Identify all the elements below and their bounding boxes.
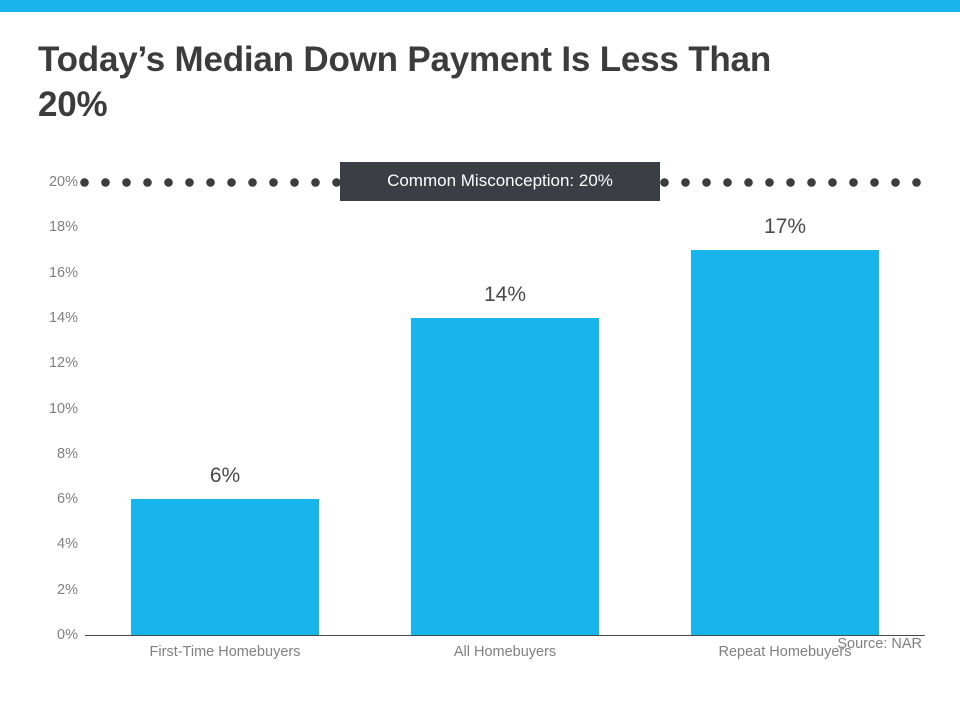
misconception-dotted-line-right bbox=[660, 178, 925, 187]
y-axis-tick-label: 12% bbox=[49, 355, 78, 371]
page-title: Today’s Median Down Payment Is Less Than… bbox=[38, 38, 798, 128]
y-axis-tick-label: 2% bbox=[57, 582, 78, 598]
y-axis: 0%2%4%6%8%10%12%14%16%18%20% bbox=[0, 182, 78, 635]
bar-value-label: 17% bbox=[764, 215, 806, 239]
x-axis-line bbox=[85, 635, 925, 636]
plot-area: 6%14%17% bbox=[85, 182, 925, 635]
misconception-dotted-line-left bbox=[80, 178, 340, 187]
bar bbox=[131, 499, 319, 635]
bar bbox=[411, 318, 599, 635]
x-axis-category-label: First-Time Homebuyers bbox=[150, 644, 301, 660]
y-axis-tick-label: 0% bbox=[57, 627, 78, 643]
bar-value-label: 6% bbox=[210, 464, 240, 488]
y-axis-tick-label: 20% bbox=[49, 174, 78, 190]
x-axis-category-label: All Homebuyers bbox=[454, 644, 556, 660]
y-axis-tick-label: 10% bbox=[49, 401, 78, 417]
y-axis-tick-label: 16% bbox=[49, 265, 78, 281]
x-axis-category-label: Repeat Homebuyers bbox=[719, 644, 852, 660]
y-axis-tick-label: 18% bbox=[49, 219, 78, 235]
misconception-label: Common Misconception: 20% bbox=[340, 162, 660, 201]
y-axis-tick-label: 14% bbox=[49, 310, 78, 326]
bar bbox=[691, 250, 879, 635]
y-axis-tick-label: 6% bbox=[57, 491, 78, 507]
bar-chart: 0%2%4%6%8%10%12%14%16%18%20% 6%14%17% So… bbox=[0, 150, 960, 670]
y-axis-tick-label: 4% bbox=[57, 536, 78, 552]
top-accent-bar bbox=[0, 0, 960, 12]
bar-value-label: 14% bbox=[484, 283, 526, 307]
y-axis-tick-label: 8% bbox=[57, 446, 78, 462]
slide-root: Today’s Median Down Payment Is Less Than… bbox=[0, 0, 960, 720]
